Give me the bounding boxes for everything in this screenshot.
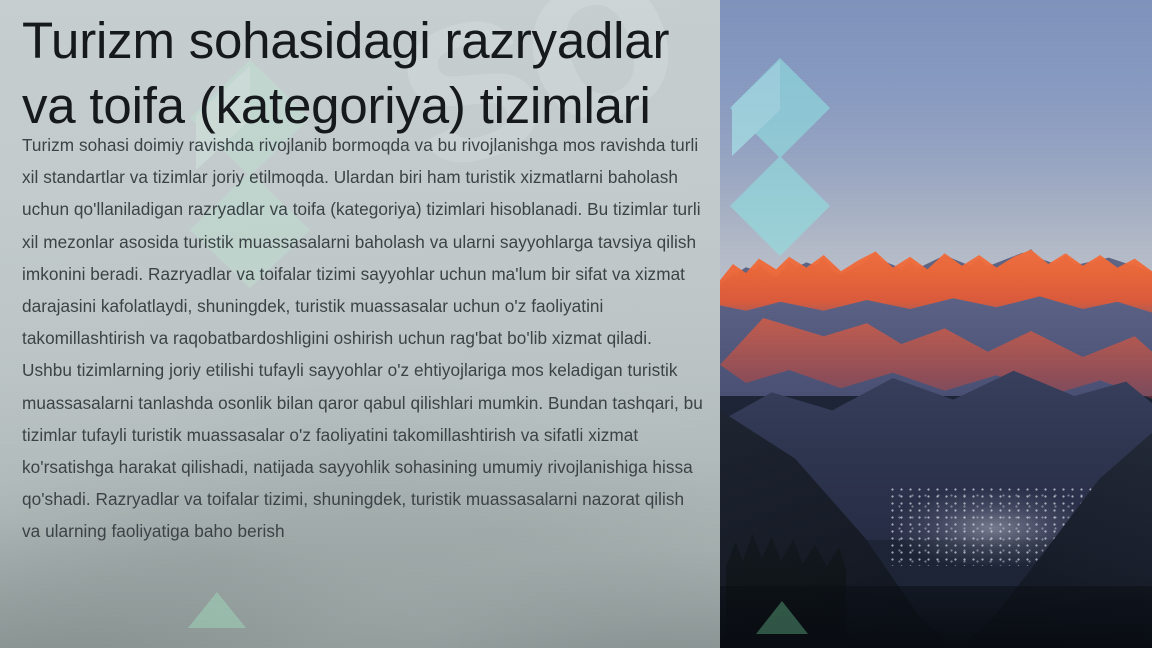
slide-body-text: Turizm sohasi doimiy ravishda rivojlanib… (22, 129, 706, 548)
photo-sky (720, 0, 1152, 300)
photo-foreground-bottom (720, 586, 1152, 648)
slide-root: so Turizm sohasidagi razryadlar va toifa… (0, 0, 1152, 648)
left-text-panel: so Turizm sohasidagi razryadlar va toifa… (0, 0, 720, 648)
slide-text-block: Turizm sohasidagi razryadlar va toifa (k… (22, 8, 706, 548)
slide-title: Turizm sohasidagi razryadlar va toifa (k… (22, 8, 706, 138)
mountain-sunset-valley-photo: so (720, 0, 1152, 648)
